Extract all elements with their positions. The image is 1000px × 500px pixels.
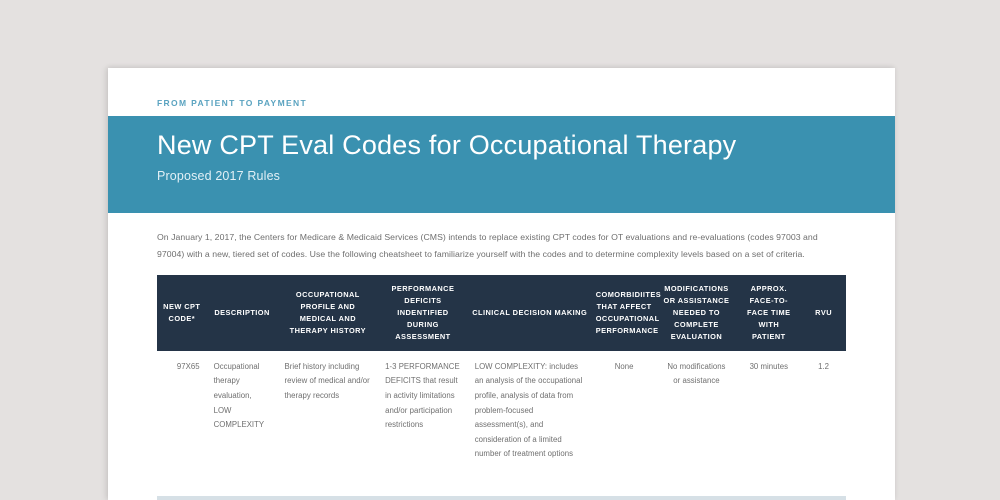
eyebrow-zone: FROM PATIENT TO PAYMENT bbox=[108, 68, 895, 116]
screenshot-canvas: FROM PATIENT TO PAYMENT New CPT Eval Cod… bbox=[0, 0, 1000, 500]
cell-time: 45 minutes bbox=[736, 496, 801, 500]
intro-section: On January 1, 2017, the Centers for Medi… bbox=[108, 213, 895, 263]
cheatsheet-table: NEW CPT CODE* DESCRIPTION OCCUPATIONAL P… bbox=[157, 275, 846, 500]
cell-rvu: 1.2 bbox=[801, 496, 846, 500]
cell-comorbidities: Maybe bbox=[592, 496, 657, 500]
table-row[interactable]: 97X65 Occupational therapy evaluation, L… bbox=[157, 351, 846, 471]
column-header-occupational-profile: OCCUPATIONAL PROFILE AND MEDICAL AND THE… bbox=[278, 275, 379, 351]
cell-deficits: 3-5 PERFORMANCE DEFICITS that result in … bbox=[378, 496, 468, 500]
column-header-clinical-decision-making: CLINICAL DECISION MAKING bbox=[468, 275, 592, 351]
intro-paragraph: On January 1, 2017, the Centers for Medi… bbox=[157, 229, 846, 263]
table-row-spacer bbox=[157, 471, 846, 496]
cell-modifications: No modifications or assistance bbox=[656, 351, 736, 471]
document-sheet: FROM PATIENT TO PAYMENT New CPT Eval Cod… bbox=[108, 68, 895, 500]
cell-time: 30 minutes bbox=[736, 351, 801, 471]
cell-clinical: LOW COMPLEXITY: includes an analysis of … bbox=[468, 351, 592, 471]
cell-clinical: MODERATE ANALYTIC COMPLEXITY: includes a… bbox=[468, 496, 592, 500]
cell-code: 97X65 bbox=[157, 351, 207, 471]
column-header-new-cpt-code: NEW CPT CODE* bbox=[157, 275, 207, 351]
page-subtitle: Proposed 2017 Rules bbox=[157, 169, 846, 183]
table-row[interactable]: 97X66 Occupational therapy evaluation, M… bbox=[157, 496, 846, 500]
cell-description: Occupational therapy evaluation, LOW COM… bbox=[207, 351, 278, 471]
column-header-modifications: MODIFICATIONS OR ASSISTANCE NEEDED TO CO… bbox=[656, 275, 736, 351]
column-header-description: DESCRIPTION bbox=[207, 275, 278, 351]
eyebrow-label: FROM PATIENT TO PAYMENT bbox=[157, 98, 307, 108]
column-header-comorbidities: COMORBIDIITES THAT AFFECT OCCUPATIONAL P… bbox=[592, 275, 657, 351]
cell-comorbidities: None bbox=[592, 351, 657, 471]
title-band: New CPT Eval Codes for Occupational Ther… bbox=[108, 116, 895, 213]
cell-profile: Expanded review of medical and/or therap… bbox=[278, 496, 379, 500]
cell-rvu: 1.2 bbox=[801, 351, 846, 471]
column-header-rvu: RVU bbox=[801, 275, 846, 351]
cell-code: 97X66 bbox=[157, 496, 207, 500]
page-title: New CPT Eval Codes for Occupational Ther… bbox=[157, 130, 846, 160]
cheatsheet-table-wrap: NEW CPT CODE* DESCRIPTION OCCUPATIONAL P… bbox=[108, 263, 895, 500]
table-header-row: NEW CPT CODE* DESCRIPTION OCCUPATIONAL P… bbox=[157, 275, 846, 351]
cell-modifications: Minimal to moderate modification of task… bbox=[656, 496, 736, 500]
column-header-performance-deficits: PERFORMANCE DEFICITS INDENTIFIED DURING … bbox=[378, 275, 468, 351]
cell-deficits: 1-3 PERFORMANCE DEFICITS that result in … bbox=[378, 351, 468, 471]
spacer-cell bbox=[157, 471, 846, 496]
cell-profile: Brief history including review of medica… bbox=[278, 351, 379, 471]
cell-description: Occupational therapy evaluation, MODERAT… bbox=[207, 496, 278, 500]
column-header-approx-time: APPROX. FACE-TO-FACE TIME WITH PATIENT bbox=[736, 275, 801, 351]
